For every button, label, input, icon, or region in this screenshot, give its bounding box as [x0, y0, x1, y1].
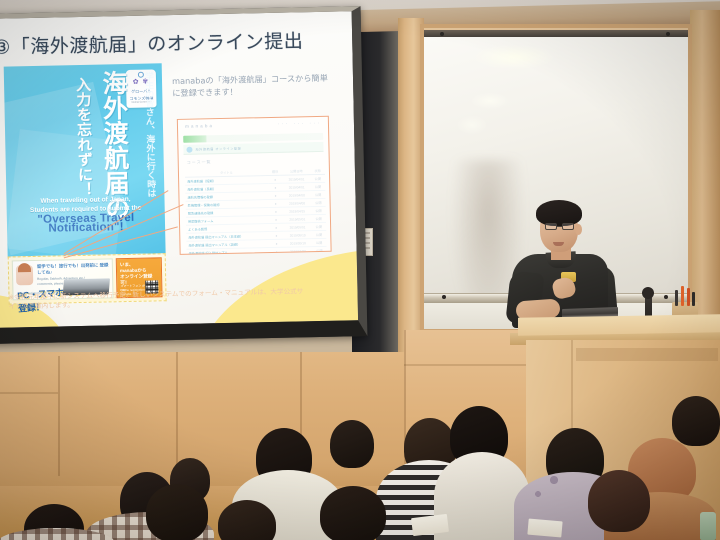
lecture-hall-photo: ③「海外渡航届」のオンライン提出 ✿ ✾ グローバル コモンズ機構 Global…	[0, 0, 720, 540]
handout-paper	[527, 519, 562, 538]
wood-pillar-right	[690, 10, 720, 340]
audience-head	[588, 470, 650, 532]
panel-seam	[0, 392, 58, 394]
audience-head	[330, 420, 374, 468]
eyeglasses-bridge	[557, 226, 562, 227]
eyeglasses-right-lens	[562, 223, 574, 230]
pen-dark	[692, 292, 695, 306]
audience-head	[146, 484, 208, 540]
pen-orange	[681, 286, 684, 306]
presenter-ear	[575, 224, 582, 235]
audience	[0, 400, 720, 540]
water-bottle	[700, 512, 716, 540]
pen-black	[675, 290, 678, 306]
eyeglasses-left-lens	[545, 223, 557, 230]
lectern-inset	[576, 348, 718, 361]
audience-head	[672, 396, 720, 446]
presenter-hair	[536, 200, 582, 226]
whiteboard-top-rail	[424, 30, 688, 37]
audience-head	[320, 486, 386, 540]
screen-bezel	[0, 6, 367, 344]
pen-red	[687, 288, 690, 306]
projection-screen: ③「海外渡航届」のオンライン提出 ✿ ✾ グローバル コモンズ機構 Global…	[0, 6, 367, 344]
